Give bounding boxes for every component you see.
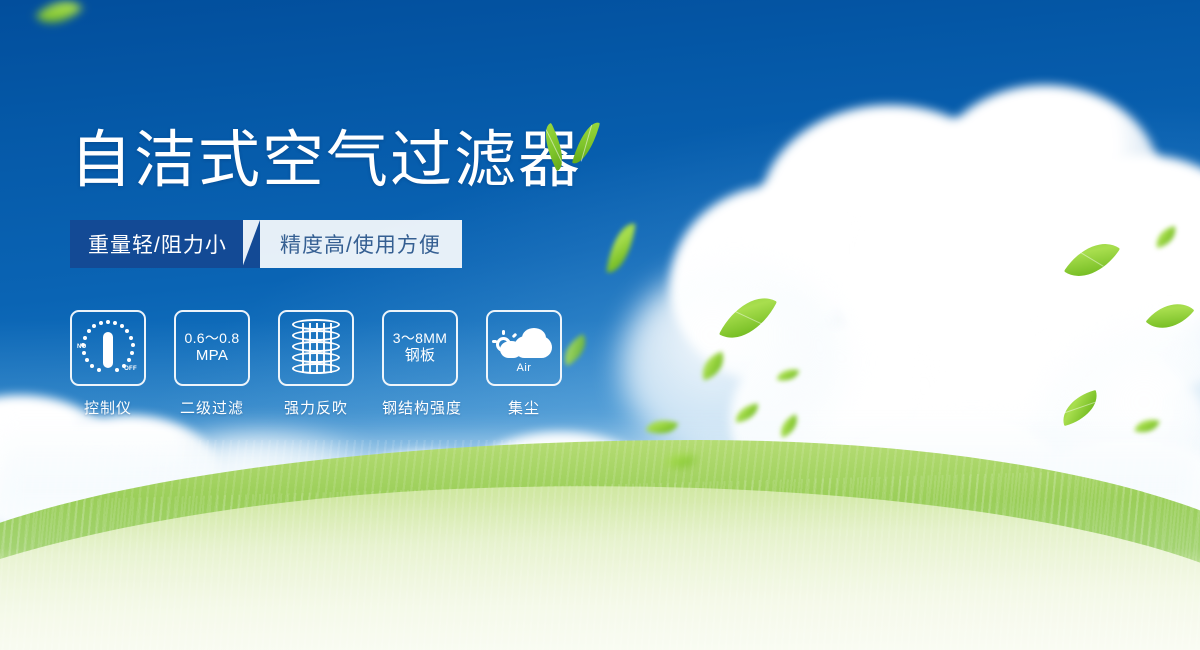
feature-item[interactable]: NO OFF 控制仪 <box>70 310 146 418</box>
feature-item[interactable]: 3～8MM 钢板 钢结构强度 <box>382 310 458 418</box>
page-title: 自洁式空气过滤器 <box>70 130 710 192</box>
grass-hill-shape <box>0 430 1200 650</box>
feature-label: 集尘 <box>486 397 562 418</box>
feature-item[interactable]: Air 集尘 <box>486 310 562 418</box>
dial-label-off: OFF <box>124 366 137 372</box>
filter-cartridge-icon <box>292 319 340 377</box>
feature-list: NO OFF 控制仪 0.6～0.8 MPA 二级过滤 <box>70 310 710 418</box>
feature-icon-box: Air <box>486 310 562 386</box>
subtitle-right: 精度高/使用方便 <box>243 220 462 268</box>
feature-icon-text-2: MPA <box>196 347 228 366</box>
product-banner: 自洁式空气过滤器 重量轻/阻力小 精度高/使用方便 <box>0 0 1200 650</box>
feature-icon-text-1: 0.6～0.8 <box>184 330 239 348</box>
feature-icon-text-2: 钢板 <box>405 347 436 366</box>
feature-icon-box <box>278 310 354 386</box>
feature-icon-box: 3～8MM 钢板 <box>382 310 458 386</box>
feature-label: 控制仪 <box>70 397 146 418</box>
feature-icon-text-1: Air <box>517 362 532 374</box>
banner-content: 自洁式空气过滤器 重量轻/阻力小 精度高/使用方便 <box>70 130 710 418</box>
sprout-leaves-icon <box>540 120 610 172</box>
feature-item[interactable]: 0.6～0.8 MPA 二级过滤 <box>174 310 250 418</box>
subtitle-bar: 重量轻/阻力小 精度高/使用方便 <box>70 220 462 268</box>
dial-label-no: NO <box>77 344 87 350</box>
feature-item[interactable]: 强力反吹 <box>278 310 354 418</box>
feature-icon-box: NO OFF <box>70 310 146 386</box>
gauge-dial-icon: NO OFF <box>79 319 137 377</box>
cloud-sun-air-icon <box>496 322 552 360</box>
feature-label: 强力反吹 <box>278 397 354 418</box>
feature-label: 二级过滤 <box>174 397 250 418</box>
feature-icon-box: 0.6～0.8 MPA <box>174 310 250 386</box>
feature-icon-text-1: 3～8MM <box>393 330 447 348</box>
feature-label: 钢结构强度 <box>382 397 458 418</box>
subtitle-left: 重量轻/阻力小 <box>70 220 243 268</box>
